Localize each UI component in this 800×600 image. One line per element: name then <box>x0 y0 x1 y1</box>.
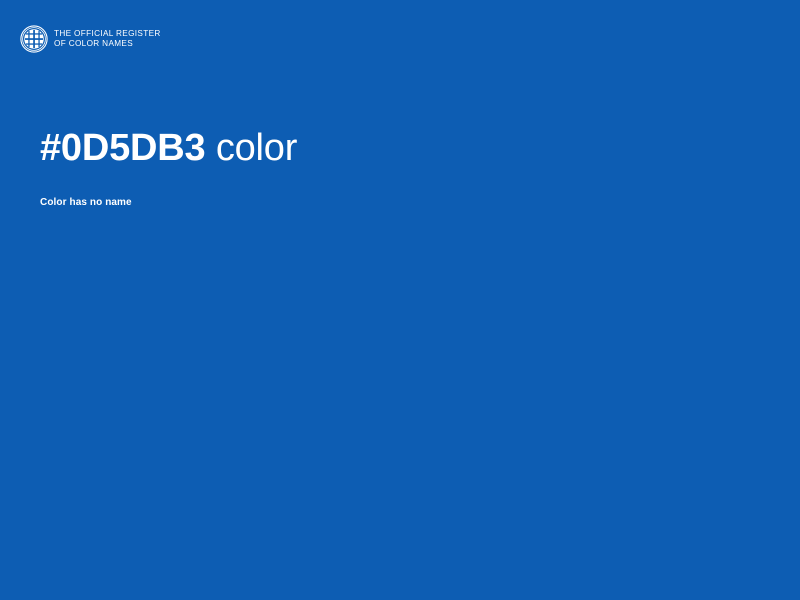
color-title-suffix: color <box>205 127 297 169</box>
logo-wordmark-line-1: THE OFFICIAL REGISTER <box>54 29 161 39</box>
color-hex-value: #0D5DB3 <box>40 127 205 169</box>
color-name-status: Color has no name <box>40 171 760 210</box>
site-logo[interactable]: THE OFFICIAL REGISTER OF COLOR NAMES <box>20 25 161 53</box>
color-page: THE OFFICIAL REGISTER OF COLOR NAMES #0D… <box>0 0 800 600</box>
register-seal-icon <box>20 25 48 53</box>
main-content: #0D5DB3 color Color has no name <box>40 125 760 210</box>
page-title: #0D5DB3 color <box>40 125 760 171</box>
logo-wordmark-line-2: OF COLOR NAMES <box>54 39 161 49</box>
logo-wordmark: THE OFFICIAL REGISTER OF COLOR NAMES <box>54 29 161 48</box>
